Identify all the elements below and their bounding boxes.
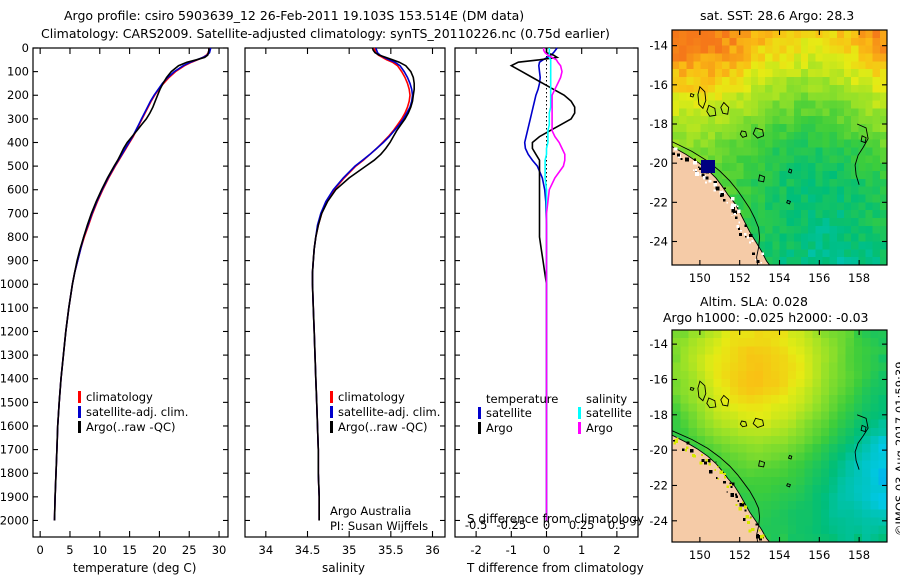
svg-text:1000: 1000 — [0, 277, 29, 291]
difference-legend-salinity: salinity satellite Argo — [578, 392, 632, 436]
difference-legend-temperature: temperature satellite Argo — [478, 392, 558, 436]
legend-swatch-argo — [330, 421, 333, 433]
svg-text:152: 152 — [729, 271, 751, 285]
svg-text:1: 1 — [578, 543, 585, 557]
svg-text:-16: -16 — [650, 372, 668, 386]
svg-text:36: 36 — [425, 543, 440, 557]
svg-text:1300: 1300 — [0, 348, 29, 362]
svg-text:500: 500 — [7, 159, 29, 173]
svg-text:-20: -20 — [650, 156, 668, 170]
svg-text:-16: -16 — [650, 78, 668, 92]
legend-swatch-argo — [78, 421, 81, 433]
svg-text:600: 600 — [7, 183, 29, 197]
svg-text:154: 154 — [769, 548, 791, 562]
credit-line1: Argo Australia — [330, 504, 411, 518]
svg-text:1100: 1100 — [0, 301, 29, 315]
svg-text:34: 34 — [259, 543, 274, 557]
svg-text:10: 10 — [92, 543, 107, 557]
legend-label-satellite-clim: satellite-adj. clim. — [86, 405, 188, 419]
svg-text:900: 900 — [7, 254, 29, 268]
legend-label-sal-satellite: satellite — [586, 406, 632, 420]
svg-text:34.5: 34.5 — [295, 543, 321, 557]
svg-text:-24: -24 — [650, 235, 668, 249]
svg-text:-14: -14 — [650, 39, 668, 53]
svg-text:1600: 1600 — [0, 419, 29, 433]
svg-text:-1: -1 — [506, 543, 517, 557]
svg-text:5: 5 — [66, 543, 73, 557]
svg-text:-14: -14 — [650, 337, 668, 351]
svg-text:152: 152 — [729, 548, 751, 562]
svg-text:158: 158 — [848, 548, 870, 562]
sst-map: 150152154156158-14-16-18-20-22-24 — [650, 24, 900, 289]
svg-text:2000: 2000 — [0, 513, 29, 527]
svg-text:150: 150 — [689, 548, 711, 562]
svg-text:-18: -18 — [650, 408, 668, 422]
svg-text:-18: -18 — [650, 117, 668, 131]
legend-label-temp-argo: Argo — [486, 421, 513, 435]
legend-heading-temperature: temperature — [486, 392, 558, 406]
sst-map-title: sat. SST: 28.6 Argo: 28.3 — [700, 8, 854, 23]
credit-line2: PI: Susan Wijffels — [330, 519, 428, 533]
svg-text:15: 15 — [122, 543, 137, 557]
legend-swatch-climatology — [78, 391, 81, 403]
legend-item-argo: Argo(..raw -QC) — [330, 420, 440, 435]
legend-item-argo: Argo(..raw -QC) — [78, 420, 188, 435]
svg-text:800: 800 — [7, 230, 29, 244]
temperature-legend: climatology satellite-adj. clim. Argo(..… — [78, 390, 188, 435]
legend-label-climatology: climatology — [86, 390, 153, 404]
legend-item-temp-argo: Argo — [478, 421, 558, 436]
svg-text:1700: 1700 — [0, 443, 29, 457]
temperature-panel: 0100200300400500600700800900100011001200… — [0, 0, 240, 580]
svg-text:-2: -2 — [470, 543, 481, 557]
svg-text:700: 700 — [7, 206, 29, 220]
svg-text:-22: -22 — [650, 195, 668, 209]
svg-text:154: 154 — [769, 271, 791, 285]
legend-label-argo: Argo(..raw -QC) — [86, 420, 176, 434]
svg-text:1800: 1800 — [0, 466, 29, 480]
svg-text:20: 20 — [152, 543, 167, 557]
svg-text:1200: 1200 — [0, 324, 29, 338]
legend-item-temp-satellite: satellite — [478, 406, 558, 421]
legend-swatch-temp-satellite — [478, 407, 481, 419]
salinity-panel: 3434.53535.536 — [240, 0, 455, 580]
svg-text:-24: -24 — [650, 514, 668, 528]
svg-text:158: 158 — [848, 271, 870, 285]
svg-text:0: 0 — [36, 543, 43, 557]
difference-xaxis-label-top: S difference from climatology — [467, 512, 644, 526]
temperature-xaxis-label: temperature (deg C) — [73, 561, 196, 575]
legend-item-sal-satellite: satellite — [578, 406, 632, 421]
legend-label-temp-satellite: satellite — [486, 406, 532, 420]
legend-label-argo: Argo(..raw -QC) — [338, 420, 428, 434]
svg-text:100: 100 — [7, 65, 29, 79]
svg-text:2: 2 — [613, 543, 620, 557]
legend-heading-salinity: salinity — [586, 392, 632, 406]
svg-text:0: 0 — [543, 543, 550, 557]
sla-map-title-line2: Argo h1000: -0.025 h2000: -0.03 — [663, 310, 868, 325]
difference-xaxis-label-bottom: T difference from climatology — [467, 561, 644, 575]
legend-item-climatology: climatology — [78, 390, 188, 405]
legend-swatch-sal-argo — [578, 422, 581, 434]
imos-watermark: ©IMOS 03-Aug-2017 01:59:39 — [893, 361, 900, 536]
legend-label-satellite-clim: satellite-adj. clim. — [338, 405, 440, 419]
legend-swatch-satellite-clim — [78, 406, 81, 418]
svg-text:300: 300 — [7, 112, 29, 126]
svg-text:30: 30 — [212, 543, 227, 557]
svg-text:156: 156 — [808, 548, 830, 562]
svg-text:-22: -22 — [650, 478, 668, 492]
svg-text:200: 200 — [7, 88, 29, 102]
legend-item-satellite-clim: satellite-adj. clim. — [330, 405, 440, 420]
legend-swatch-satellite-clim — [330, 406, 333, 418]
sla-map: 150152154156158-14-16-18-20-22-24 — [650, 326, 900, 580]
svg-text:1900: 1900 — [0, 490, 29, 504]
svg-text:-20: -20 — [650, 443, 668, 457]
legend-swatch-climatology — [330, 391, 333, 403]
svg-text:35: 35 — [342, 543, 357, 557]
svg-text:1500: 1500 — [0, 395, 29, 409]
legend-label-climatology: climatology — [338, 390, 405, 404]
legend-item-satellite-clim: satellite-adj. clim. — [78, 405, 188, 420]
svg-text:150: 150 — [689, 271, 711, 285]
svg-text:0: 0 — [22, 41, 29, 55]
legend-item-sal-argo: Argo — [578, 421, 632, 436]
svg-text:1400: 1400 — [0, 372, 29, 386]
svg-text:156: 156 — [808, 271, 830, 285]
legend-swatch-sal-satellite — [578, 407, 581, 419]
legend-label-sal-argo: Argo — [586, 421, 613, 435]
salinity-xaxis-label: salinity — [322, 561, 365, 575]
sla-map-title-line1: Altim. SLA: 0.028 — [700, 294, 808, 309]
svg-text:400: 400 — [7, 135, 29, 149]
legend-item-climatology: climatology — [330, 390, 440, 405]
svg-text:25: 25 — [182, 543, 197, 557]
svg-text:35.5: 35.5 — [378, 543, 404, 557]
salinity-legend: climatology satellite-adj. clim. Argo(..… — [330, 390, 440, 435]
difference-panel: -2-1012-0.5-0.2500.250.5 — [450, 0, 650, 580]
legend-swatch-temp-argo — [478, 422, 481, 434]
